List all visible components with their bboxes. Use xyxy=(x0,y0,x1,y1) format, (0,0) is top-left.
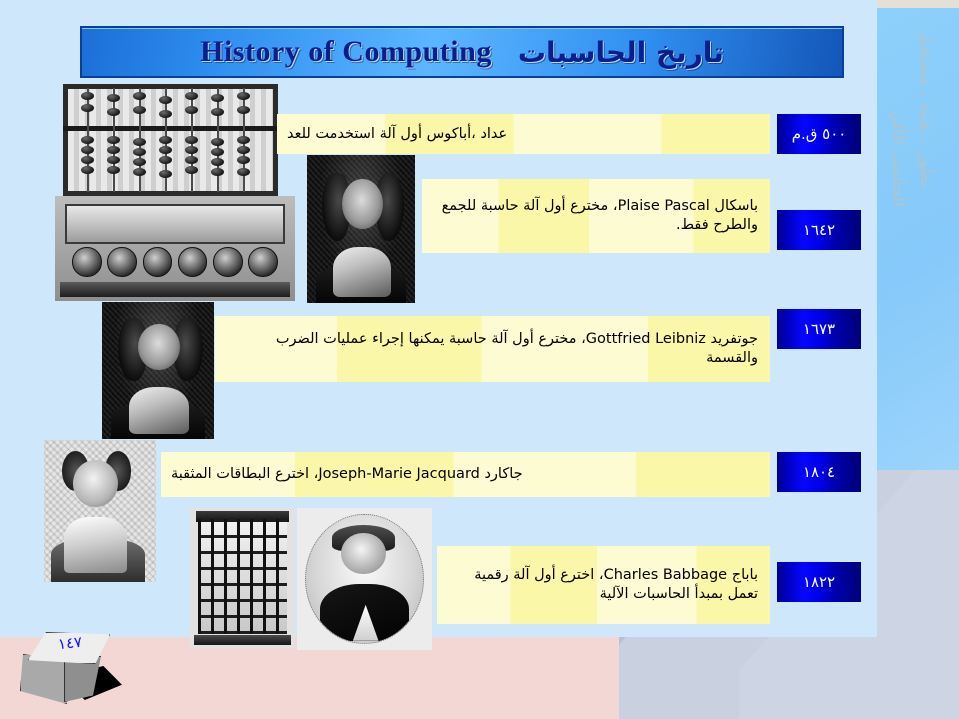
pascaline-machine-photo xyxy=(55,196,295,301)
timeline-date-badge-2: ١٦٧٣ xyxy=(777,309,861,349)
abacus-divider-bar xyxy=(63,126,278,131)
difference-engine-photo xyxy=(190,508,295,648)
page-title-english: History of Computing xyxy=(200,35,492,69)
timeline-text-4: باباج Charles Babbage، اخترع أول آلة رقم… xyxy=(437,546,770,624)
pascaline-top-plate xyxy=(65,204,286,244)
watermark-line-2: الحاسب الآلي xyxy=(888,110,908,207)
gottfried-leibniz-portrait xyxy=(102,302,214,439)
watermark-line-1: تطور ، تقنية ، مستقبل xyxy=(916,30,936,187)
timeline-text-0: عداد ،أباكوس أول آلة استخدمت للعد xyxy=(277,114,770,154)
timeline-text-1: باسكال Plaise Pascal، مخترع أول آلة حاسب… xyxy=(422,179,770,253)
title-banner: History of Computing تاريخ الحاسبات xyxy=(80,26,844,78)
timeline-date-badge-4: ١٨٢٢ xyxy=(777,562,861,602)
slide-canvas: تطور ، تقنية ، مستقبل الحاسب الآلي Histo… xyxy=(0,0,959,719)
pascaline-base xyxy=(60,282,290,297)
timeline-date-badge-1: ١٦٤٢ xyxy=(777,210,861,250)
joseph-marie-jacquard-portrait xyxy=(44,440,156,582)
abacus-photo xyxy=(63,84,278,196)
blaise-pascal-portrait xyxy=(307,155,415,303)
timeline-text-2: جوتفريد Gottfried Leibniz، مخترع أول آلة… xyxy=(215,316,770,382)
page-number-keycap: ١٤٧ xyxy=(18,632,128,704)
sidebar-top-cap xyxy=(877,0,959,8)
page-title-arabic: تاريخ الحاسبات xyxy=(518,36,724,69)
timeline-date-badge-0: ٥٠٠ ق.م xyxy=(777,114,861,154)
pascaline-dial-row xyxy=(69,246,280,278)
timeline-date-badge-3: ١٨٠٤ xyxy=(777,452,861,492)
timeline-text-3: جاكارد Joseph-Marie Jacquard، اخترع البط… xyxy=(161,452,770,497)
charles-babbage-portrait xyxy=(297,508,432,650)
